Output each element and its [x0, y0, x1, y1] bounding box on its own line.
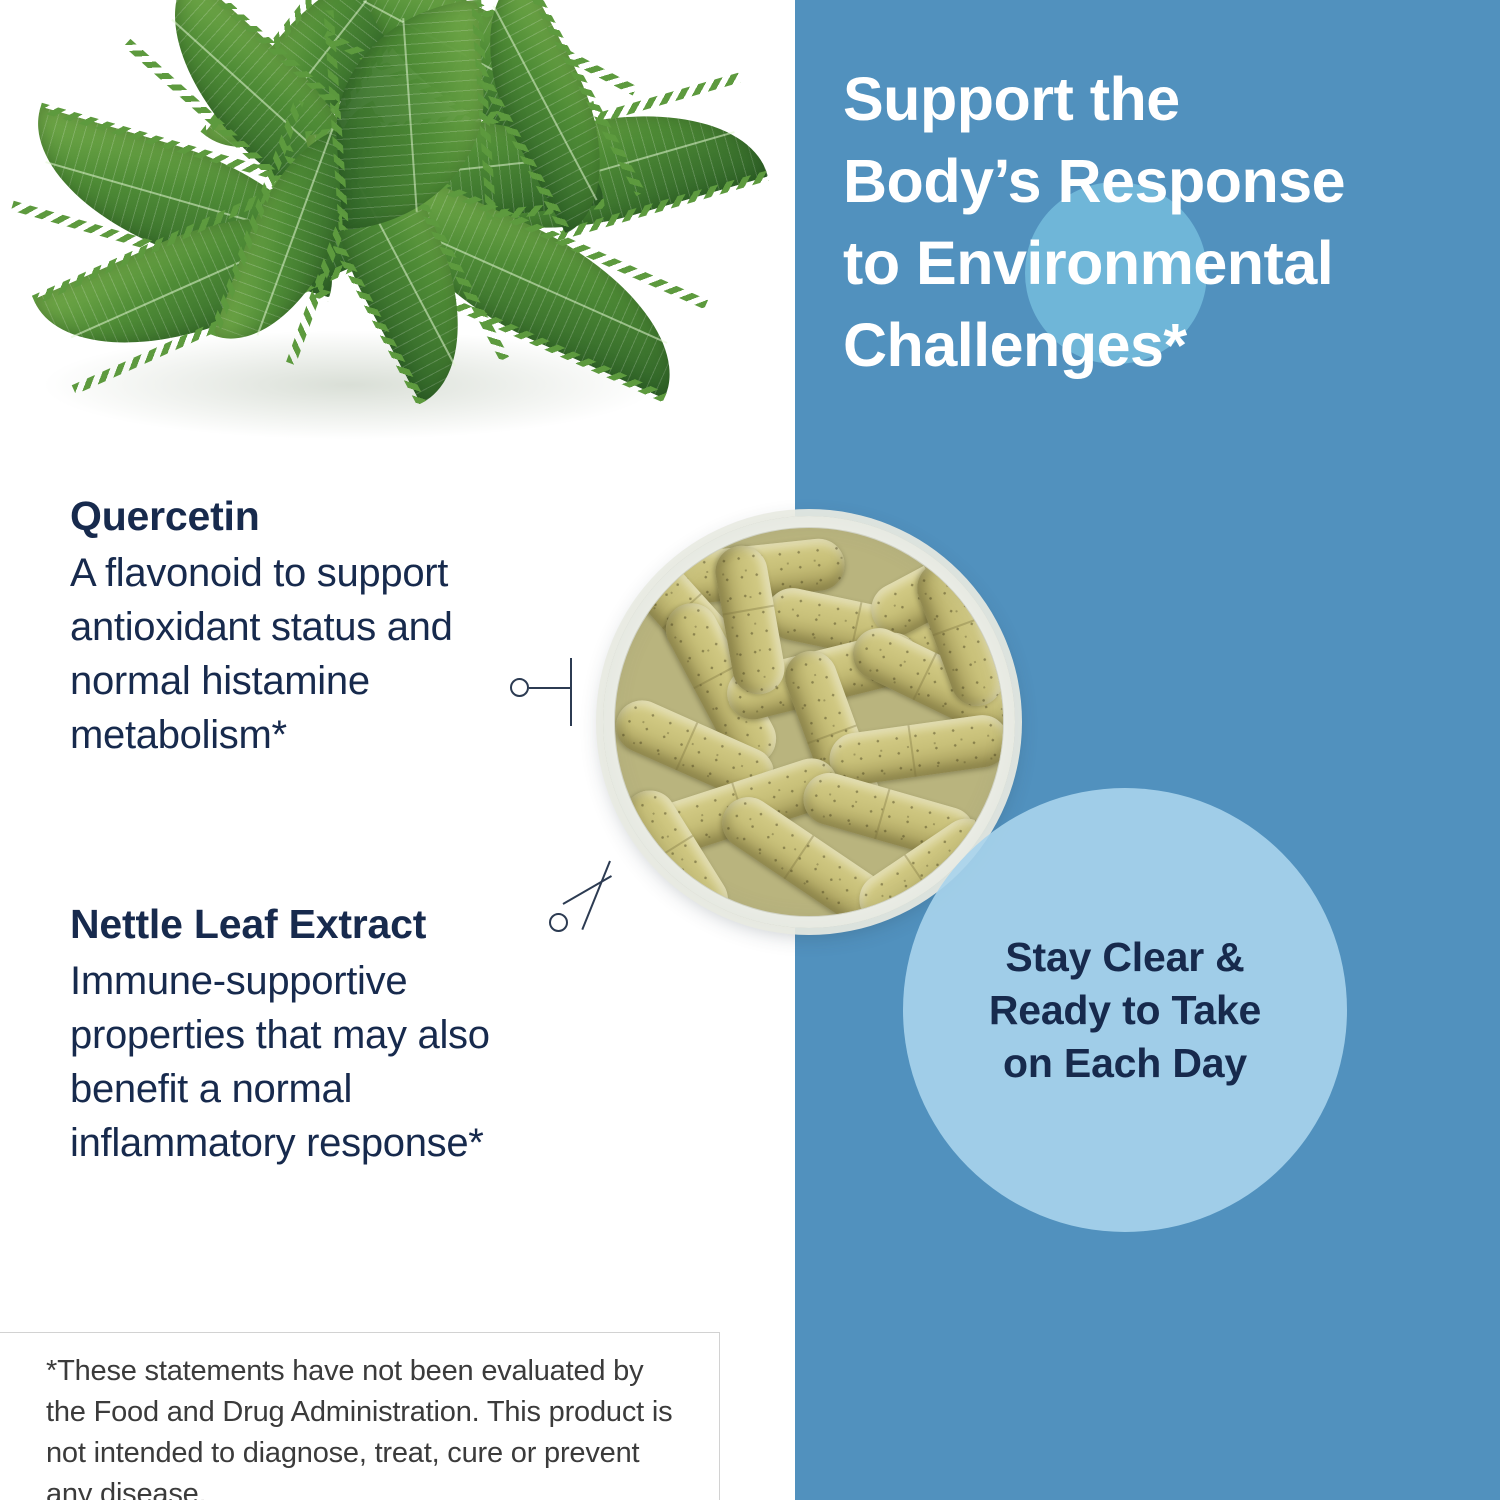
badge-line-2: Ready to Take: [989, 984, 1261, 1037]
stay-clear-badge: Stay Clear & Ready to Take on Each Day: [903, 788, 1347, 1232]
leader-segment: [529, 687, 572, 689]
badge-line-1: Stay Clear &: [989, 931, 1261, 984]
leader-dot-icon: [510, 678, 529, 697]
leader-segment: [563, 875, 612, 905]
nettle-leaves-photo: [0, 0, 795, 470]
ingredient-description: A flavonoid to support antioxidant statu…: [70, 546, 570, 762]
ingredient-nettle-leaf-extract: Nettle Leaf Extract Immune-supportive pr…: [70, 900, 570, 1170]
ingredient-quercetin: Quercetin A flavonoid to support antioxi…: [70, 492, 570, 762]
badge-text: Stay Clear & Ready to Take on Each Day: [989, 931, 1261, 1090]
leader-line-nettle: [545, 865, 665, 960]
infographic-canvas: Support the Body’s Response to Environme…: [0, 0, 1500, 1500]
headline-line-1: Support the: [843, 58, 1483, 140]
leader-line-quercetin: [505, 650, 635, 750]
bowl-interior: [615, 528, 1003, 916]
disclaimer-box: *These statements have not been evaluate…: [0, 1332, 720, 1500]
headline: Support the Body’s Response to Environme…: [843, 58, 1483, 386]
ingredient-title: Nettle Leaf Extract: [70, 900, 570, 948]
headline-line-4: Challenges*: [843, 304, 1483, 386]
badge-line-3: on Each Day: [989, 1037, 1261, 1090]
leader-crossbar: [581, 861, 611, 930]
ingredient-title: Quercetin: [70, 492, 570, 540]
ingredient-description: Immune-supportive properties that may al…: [70, 954, 570, 1170]
leader-dot-icon: [549, 913, 568, 932]
leader-crossbar: [570, 658, 572, 726]
disclaimer-text: *These statements have not been evaluate…: [46, 1351, 686, 1500]
headline-line-3: to Environmental: [843, 222, 1483, 304]
headline-line-2: Body’s Response: [843, 140, 1483, 222]
